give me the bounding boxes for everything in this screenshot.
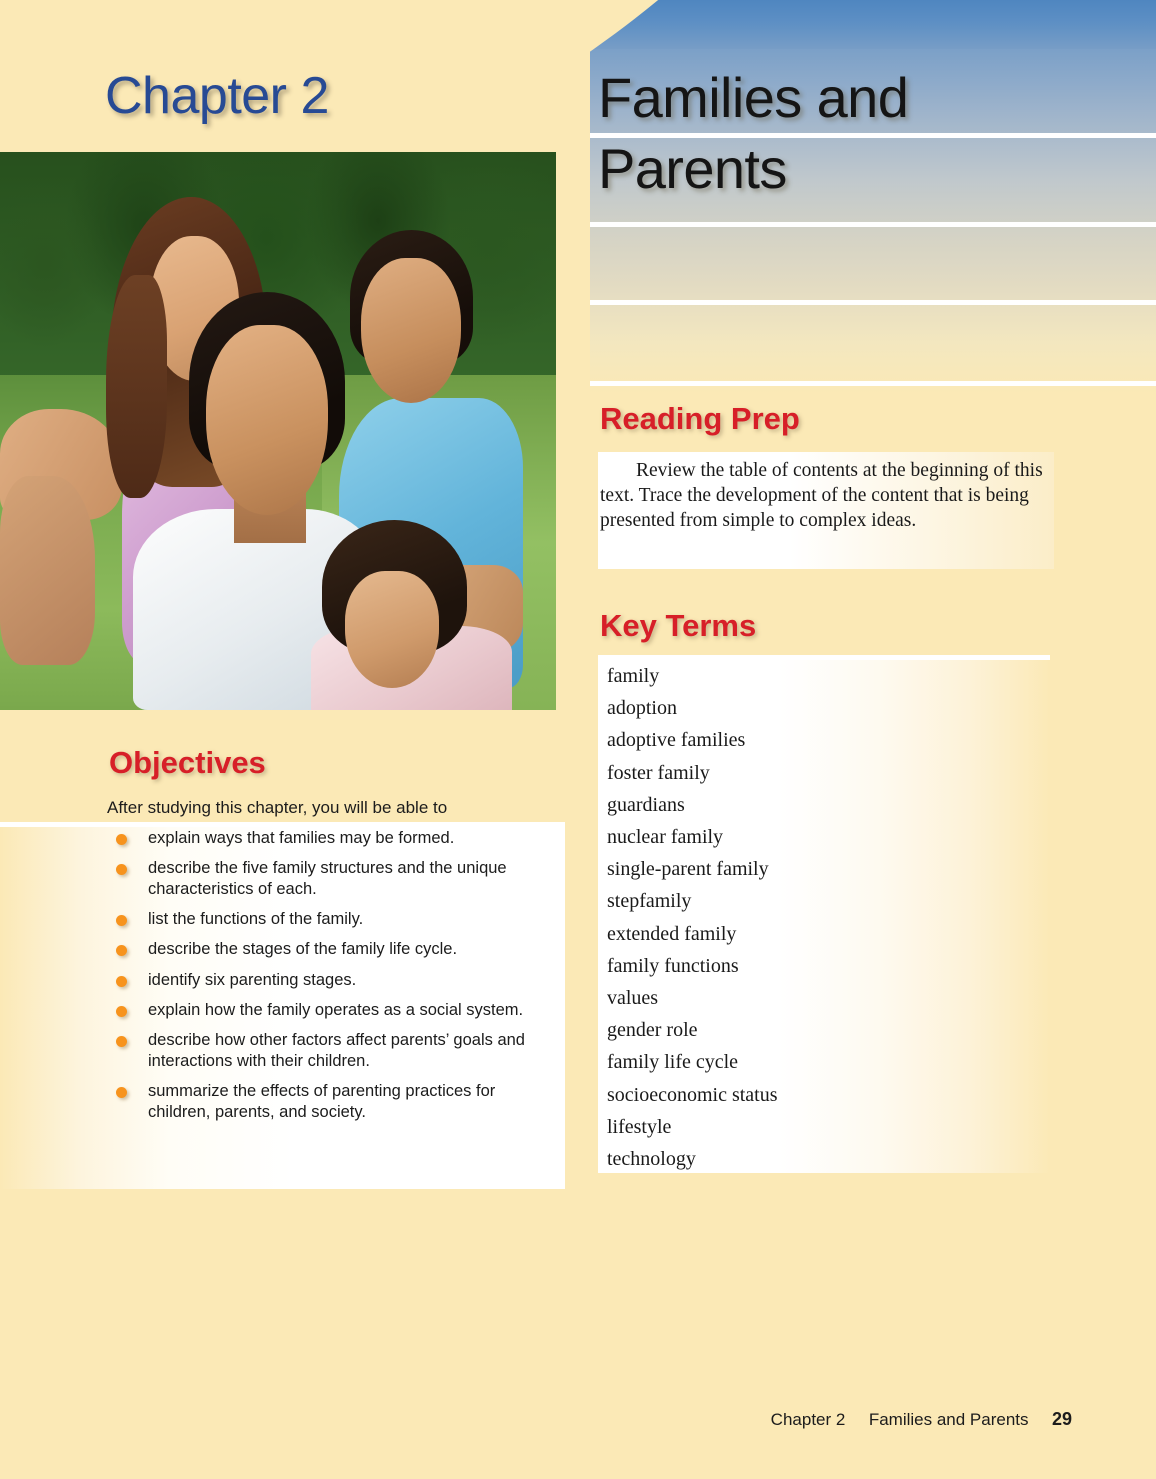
objective-text: describe the stages of the family life c…	[148, 940, 457, 958]
objective-text: identify six parenting stages.	[148, 971, 356, 989]
key-term: adoptive families	[607, 724, 1037, 756]
key-term: adoption	[607, 692, 1037, 724]
header-divider-3	[590, 300, 1156, 305]
objective-item: explain how the family operates as a soc…	[0, 1000, 565, 1021]
objective-item: list the functions of the family.	[0, 909, 565, 930]
objective-item: describe the five family structures and …	[0, 858, 565, 900]
key-term: guardians	[607, 789, 1037, 821]
objective-item: identify six parenting stages.	[0, 970, 565, 991]
objective-item: describe the stages of the family life c…	[0, 939, 565, 960]
objective-item: summarize the effects of parenting pract…	[0, 1081, 565, 1123]
photo-mother-arm-lower	[0, 476, 95, 666]
bullet-icon	[116, 1006, 127, 1017]
key-term: nuclear family	[607, 821, 1037, 853]
page-title: Families and Parents	[598, 62, 1068, 204]
key-term: values	[607, 982, 1037, 1014]
objectives-intro: After studying this chapter, you will be…	[107, 798, 447, 818]
objective-item: explain ways that families may be formed…	[0, 828, 565, 849]
objectives-heading: Objectives	[109, 745, 266, 781]
objective-text: explain ways that families may be formed…	[148, 829, 454, 847]
objective-text: summarize the effects of parenting pract…	[148, 1082, 495, 1121]
reading-prep-heading: Reading Prep	[600, 401, 800, 437]
bullet-icon	[116, 945, 127, 956]
key-term: family life cycle	[607, 1046, 1037, 1078]
key-term: single-parent family	[607, 853, 1037, 885]
chapter-label: Chapter 2	[105, 66, 329, 126]
objective-text: describe the five family structures and …	[148, 859, 507, 898]
key-term: family	[607, 660, 1037, 692]
key-terms-heading: Key Terms	[600, 608, 756, 644]
page-footer: Chapter 2 Families and Parents 29	[771, 1409, 1072, 1430]
key-term: foster family	[607, 757, 1037, 789]
header-divider-4	[590, 381, 1156, 386]
key-term: gender role	[607, 1014, 1037, 1046]
bullet-icon	[116, 976, 127, 987]
key-term: technology	[607, 1143, 1037, 1175]
objective-item: describe how other factors affect parent…	[0, 1030, 565, 1072]
key-term: socioeconomic status	[607, 1079, 1037, 1111]
bullet-icon	[116, 834, 127, 845]
bullet-icon	[116, 1087, 127, 1098]
header-divider-2	[590, 222, 1156, 227]
key-term: family functions	[607, 950, 1037, 982]
footer-title: Families and Parents	[869, 1410, 1029, 1429]
key-term: lifestyle	[607, 1111, 1037, 1143]
photo-father-face	[206, 325, 328, 515]
textbook-page: Chapter 2 Objectives After studying this…	[0, 0, 1156, 1479]
objective-text: list the functions of the family.	[148, 910, 363, 928]
bullet-icon	[116, 1036, 127, 1047]
bullet-icon	[116, 915, 127, 926]
key-term: extended family	[607, 918, 1037, 950]
photo-boy-face	[361, 258, 461, 403]
bullet-icon	[116, 864, 127, 875]
objectives-list: explain ways that families may be formed…	[0, 828, 565, 1132]
key-terms-list: family adoption adoptive families foster…	[607, 660, 1037, 1175]
objective-text: describe how other factors affect parent…	[148, 1031, 525, 1070]
page-number: 29	[1052, 1409, 1072, 1429]
photo-girl-face	[345, 571, 440, 688]
footer-chapter: Chapter 2	[771, 1410, 846, 1429]
family-photo	[0, 152, 556, 710]
objective-text: explain how the family operates as a soc…	[148, 1001, 523, 1019]
photo-mother-hair-strand	[106, 275, 167, 498]
key-term: stepfamily	[607, 885, 1037, 917]
reading-prep-body: Review the table of contents at the begi…	[600, 458, 1052, 533]
